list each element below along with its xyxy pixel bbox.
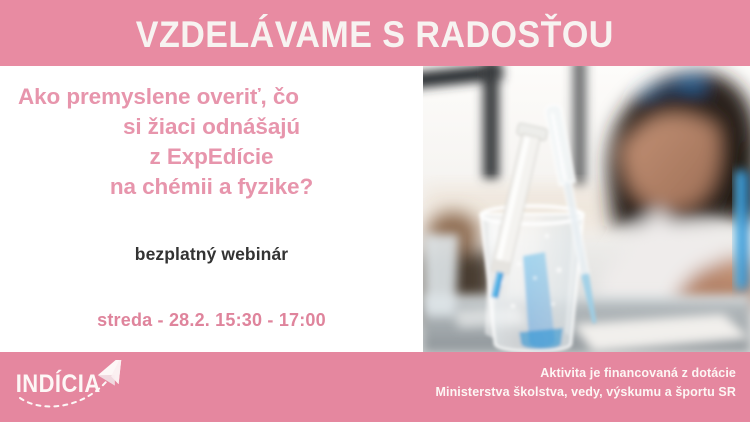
background-glass (423, 234, 459, 316)
subtitle-free-webinar: bezplatný webinár (135, 202, 288, 265)
headline: Ako premyslene overiť, čo si žiaci odnáš… (12, 82, 411, 202)
event-datetime: streda - 28.2. 15:30 - 17:00 (97, 265, 326, 331)
footer-band: INDÍCIA Aktivita je financovaná z dotáci… (0, 352, 750, 422)
funding-line-2: Ministerstva školstva, vedy, výskumu a š… (435, 383, 736, 402)
headline-line-1: Ako premyslene overiť, čo (12, 82, 411, 112)
photo-chemistry-experiment (423, 66, 750, 352)
headline-line-2: si žiaci odnášajú (12, 112, 411, 142)
headline-line-3: z ExpEdície (12, 142, 411, 172)
content-column: Ako premyslene overiť, čo si žiaci odnáš… (0, 66, 423, 352)
header-band: VZDELÁVAME S RADOSŤOU (0, 0, 750, 66)
page-title: VZDELÁVAME S RADOSŤOU (136, 16, 614, 53)
logo-svg: INDÍCIA (14, 360, 134, 412)
headline-line-4: na chémii a fyzike? (12, 172, 411, 202)
poster-canvas: VZDELÁVAME S RADOSŤOU Ako premyslene ove… (0, 0, 750, 422)
funding-note: Aktivita je financovaná z dotácie Minist… (435, 364, 736, 403)
funding-line-1: Aktivita je financovaná z dotácie (435, 364, 736, 383)
photo-illustration (423, 66, 750, 352)
logo-wordmark: INDÍCIA (16, 369, 101, 398)
blue-pen (735, 170, 748, 290)
indicia-logo[interactable]: INDÍCIA (14, 360, 134, 412)
